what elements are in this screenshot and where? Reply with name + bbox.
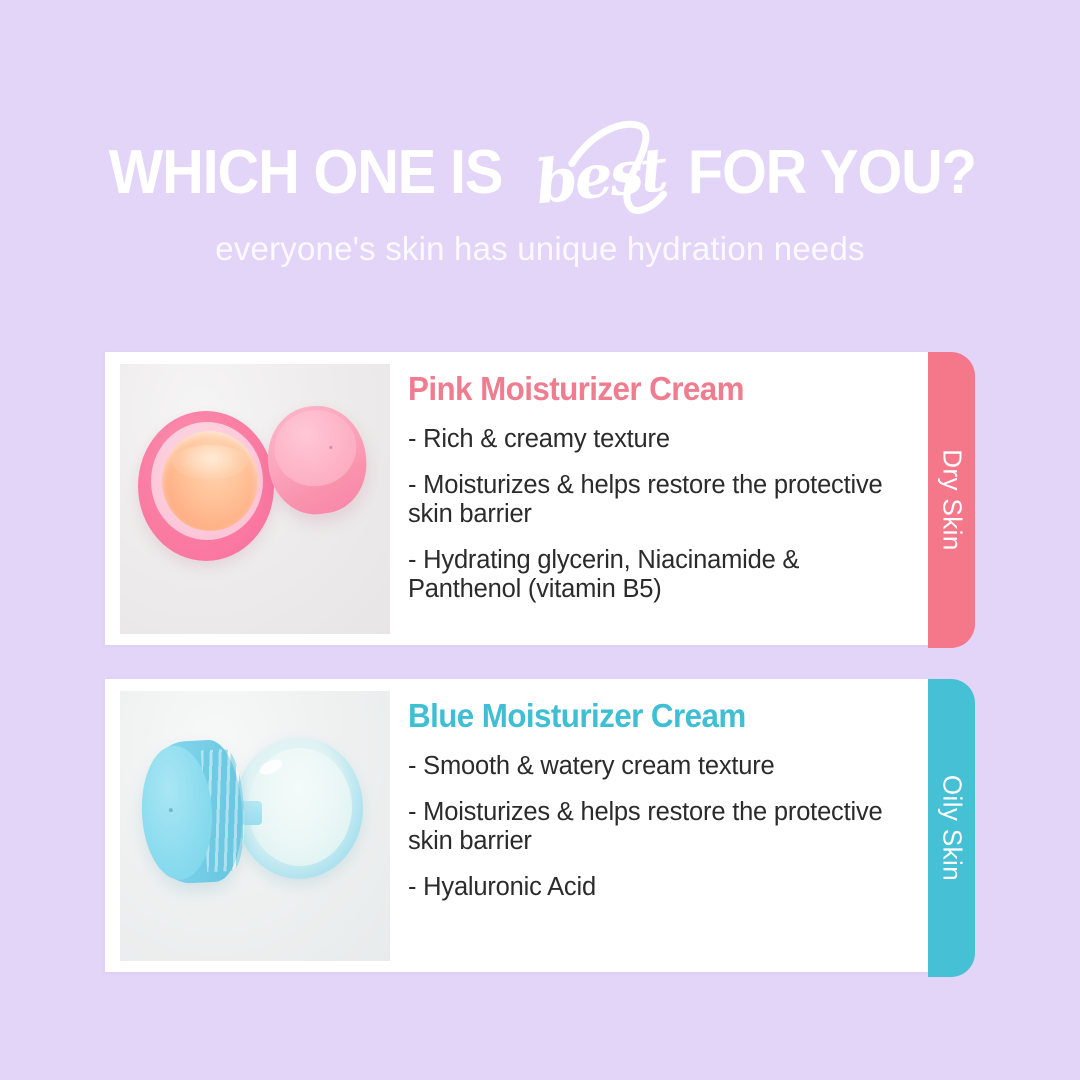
product-title-blue: Blue Moisturizer Cream xyxy=(408,699,893,732)
feature-bullet: - Moisturizes & helps restore the protec… xyxy=(408,471,918,530)
pink-lid-surface xyxy=(269,405,361,492)
skin-type-tab-label: Dry Skin xyxy=(936,449,967,550)
feature-bullet: - Moisturizes & helps restore the protec… xyxy=(408,798,918,857)
headline-script-text: best xyxy=(532,135,668,218)
headline-text-start: WHICH ONE IS xyxy=(109,142,502,204)
product-card-blue[interactable]: Blue Moisturizer Cream - Smooth & watery… xyxy=(105,679,928,972)
product-card-pink[interactable]: Pink Moisturizer Cream - Rich & creamy t… xyxy=(105,352,928,645)
feature-bullet: - Hyaluronic Acid xyxy=(408,873,918,903)
feature-bullet: - Smooth & watery cream texture xyxy=(408,752,918,782)
skin-type-tab-dry[interactable]: Dry Skin xyxy=(928,352,975,648)
card-body-pink: Pink Moisturizer Cream - Rich & creamy t… xyxy=(390,352,928,645)
blue-jar-illustration xyxy=(120,691,390,961)
product-image-pink xyxy=(120,364,390,634)
skin-type-tab-label: Oily Skin xyxy=(936,775,967,881)
page-headline: WHICH ONE IS best FOR YOU? xyxy=(0,132,1080,214)
feature-bullet: - Hydrating glycerin, Niacinamide & Pant… xyxy=(408,546,918,605)
skin-type-tab-oily[interactable]: Oily Skin xyxy=(928,679,975,977)
page-subtitle: everyone's skin has unique hydration nee… xyxy=(0,230,1080,268)
headline-text-end: FOR YOU? xyxy=(687,142,975,204)
headline-script-word: best xyxy=(515,139,680,215)
product-title-pink: Pink Moisturizer Cream xyxy=(408,372,893,405)
header: WHICH ONE IS best FOR YOU? everyone's sk… xyxy=(0,0,1080,268)
pink-jar-illustration xyxy=(120,364,390,634)
pink-cream-product xyxy=(162,431,258,531)
card-body-blue: Blue Moisturizer Cream - Smooth & watery… xyxy=(390,679,928,972)
feature-bullet: - Rich & creamy texture xyxy=(408,425,918,455)
product-image-blue xyxy=(120,691,390,961)
